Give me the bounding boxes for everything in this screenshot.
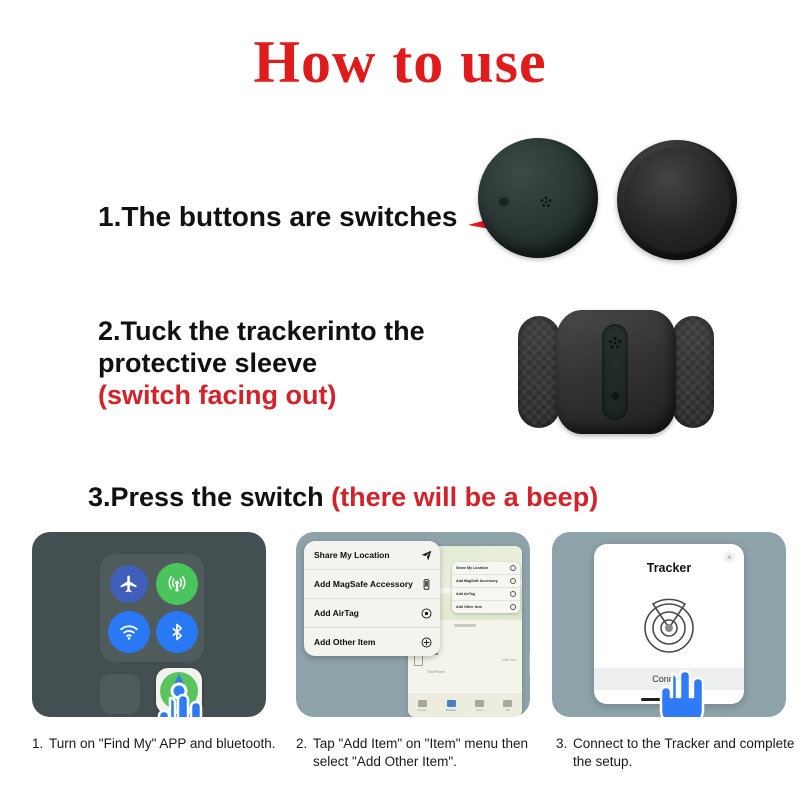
plus-circle-icon [421, 637, 432, 648]
menu-item-add-airtag[interactable]: Add AirTag [304, 599, 440, 628]
caption-3: 3. Connect to the Tracker and complete t… [556, 735, 796, 771]
step-2-text: 2.Tuck the trackerinto the protective sl… [98, 316, 425, 378]
tab-me[interactable]: Me [503, 700, 512, 712]
preview-menu-item[interactable]: Share My Location [452, 562, 520, 575]
sleeve-slot [602, 324, 628, 420]
caption-number: 1. [32, 735, 43, 753]
step-3-accent: (there will be a beep) [331, 482, 598, 512]
menu-item-label: Add MagSafe Accessory [314, 579, 413, 590]
panel-control-center [32, 532, 266, 717]
preview-context-menu: Share My Location Add MagSafe Accessory … [452, 562, 520, 613]
hand-pointer-icon [524, 631, 530, 689]
tab-bar: People Devices Items Me [408, 693, 522, 717]
device-icon [414, 655, 423, 666]
step-2-heading: 2.Tuck the trackerinto the protective sl… [98, 316, 478, 412]
preview-menu-label: Add MagSafe Accessory [456, 579, 498, 583]
tab-devices[interactable]: Devices [446, 700, 457, 712]
tab-label: Devices [446, 708, 457, 712]
devices-icon [447, 700, 456, 707]
step-2-accent: (switch facing out) [98, 380, 337, 410]
caption-text: Turn on "Find My" APP and bluetooth. [32, 735, 277, 753]
sleeve-switch [611, 391, 620, 400]
airtag-circle-icon [421, 608, 432, 619]
hand-pointer-icon [654, 668, 706, 717]
wifi-icon [118, 621, 140, 643]
step-1-text: 1.The buttons are switches [98, 201, 457, 232]
caption-text: Connect to the Tracker and complete the … [556, 735, 796, 771]
tracker-front-photo [478, 138, 598, 258]
tracker-button [499, 196, 509, 206]
menu-item-add-magsafe-accessory[interactable]: Add MagSafe Accessory [304, 570, 440, 599]
airtag-circle-icon [510, 591, 516, 597]
menu-item-label: Share My Location [314, 550, 390, 561]
panel-tracker-dialog: × Tracker Connect [552, 532, 786, 717]
items-icon [475, 700, 484, 707]
cellular-icon [166, 573, 188, 595]
caption-number: 2. [296, 735, 307, 753]
tracker-back-photo [617, 140, 737, 260]
protective-sleeve-photo [518, 310, 714, 434]
empty-tile [100, 674, 140, 714]
tab-label: Me [506, 708, 510, 712]
step-3-heading: 3.Press the switch (there will be a beep… [88, 482, 598, 514]
sleeve-body [556, 310, 676, 434]
wifi-toggle[interactable] [108, 611, 150, 653]
paper-plane-icon [510, 565, 516, 571]
tab-label: Items [476, 708, 483, 712]
speaker-holes-icon [540, 196, 552, 208]
menu-item-add-other-item[interactable]: Add Other Item [304, 628, 440, 656]
sheet-drag-handle[interactable] [454, 624, 476, 627]
menu-item-label: Add AirTag [314, 608, 359, 619]
sleeve-flap-left [518, 316, 560, 428]
caption-text: Tap "Add Item" on "Item" menu then selec… [296, 735, 536, 771]
phone-icon [510, 578, 516, 584]
people-icon [418, 700, 427, 707]
context-menu: Share My Location Add MagSafe Accessory … [304, 541, 440, 656]
control-center-toggle-group [100, 554, 204, 662]
tab-items[interactable]: Items [475, 700, 484, 712]
preview-menu-label: Add AirTag [456, 592, 475, 596]
plus-circle-icon [510, 604, 516, 610]
panel-add-item-menu: Share My Location Add MagSafe Accessory … [296, 532, 530, 717]
menu-item-share-my-location[interactable]: Share My Location [304, 541, 440, 570]
phone-icon [421, 579, 432, 590]
speaker-holes-icon [608, 336, 622, 350]
bluetooth-toggle[interactable] [156, 611, 198, 653]
hand-pointer-icon [152, 692, 204, 717]
preview-menu-item[interactable]: Add MagSafe Accessory [452, 575, 520, 588]
cellular-data-toggle[interactable] [156, 563, 198, 605]
step-1-heading: 1.The buttons are switches [98, 200, 457, 233]
how-to-use-infographic: How to use 1.The buttons are switches 2.… [0, 0, 800, 800]
caption-number: 3. [556, 735, 567, 753]
me-icon [503, 700, 512, 707]
menu-item-label: Add Other Item [314, 637, 375, 648]
preview-menu-item[interactable]: Add Other Item [452, 601, 520, 613]
radar-icon [637, 592, 701, 656]
tab-label: People [417, 708, 426, 712]
paper-plane-icon [421, 550, 432, 561]
airplane-icon [119, 574, 139, 594]
caption-2: 2. Tap "Add Item" on "Item" menu then se… [296, 735, 536, 771]
sleeve-flap-right [672, 316, 714, 428]
device-subtitle: This iPhone [427, 670, 445, 674]
tab-people[interactable]: People [417, 700, 426, 712]
airplane-mode-toggle[interactable] [110, 565, 148, 603]
caption-1: 1. Turn on "Find My" APP and bluetooth. [32, 735, 277, 753]
step-3-text: 3.Press the switch [88, 482, 324, 512]
preview-menu-label: Add Other Item [456, 605, 482, 609]
preview-menu-label: Share My Location [456, 566, 488, 570]
dialog-title: Tracker [594, 561, 744, 575]
page-title: How to use [0, 32, 800, 92]
device-meta: With You [503, 658, 516, 662]
bluetooth-icon [167, 622, 187, 642]
preview-menu-item[interactable]: Add AirTag [452, 588, 520, 601]
